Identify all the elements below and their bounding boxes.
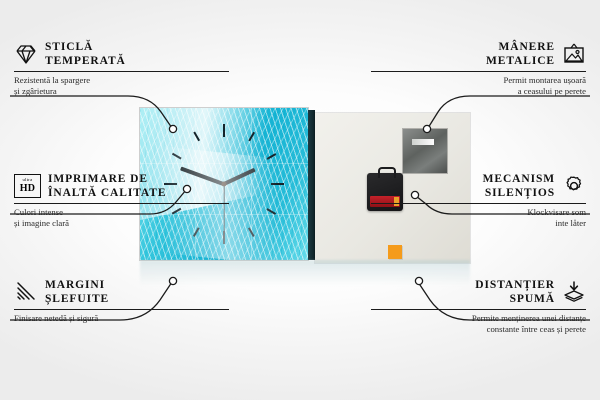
feature-title: DISTANȚIERSPUMĂ [475, 278, 555, 306]
hour-marker [223, 231, 225, 244]
infographic-canvas: STICLĂTEMPERATĂ Rezistentă la spargereși… [0, 0, 600, 400]
panel-seam-horizontal-1 [140, 163, 308, 164]
divider [14, 71, 229, 72]
feature-sticla-temperata[interactable]: STICLĂTEMPERATĂ Rezistentă la spargereși… [14, 40, 229, 98]
divider [371, 309, 586, 310]
diamond-icon [14, 42, 38, 66]
picture-hanger-icon [562, 42, 586, 66]
divider [14, 203, 229, 204]
hour-marker [223, 124, 225, 137]
divider [14, 309, 229, 310]
hour-marker [267, 153, 276, 159]
metal-hanger-bracket [403, 129, 447, 173]
ultra-hd-icon: ultraHD [14, 174, 41, 198]
feature-title: MARGINIȘLEFUITE [45, 278, 109, 306]
feature-distantier-spuma[interactable]: DISTANȚIERSPUMĂ Permite menținerea unei … [371, 278, 586, 336]
hour-marker [248, 227, 254, 236]
feature-title: MÂNEREMETALICE [486, 40, 555, 68]
gear-icon [562, 174, 586, 198]
feature-manere-metalice[interactable]: MÂNEREMETALICE Permit montarea ușoarăa c… [371, 40, 586, 98]
feature-margini-slefuite[interactable]: MARGINIȘLEFUITE Finisare netedă și sigur… [14, 278, 229, 324]
hour-marker [172, 153, 181, 159]
feature-description: Culori intenseși imagine clară [14, 207, 229, 230]
press-down-pad-icon [562, 280, 586, 304]
divider [371, 203, 586, 204]
feature-title: IMPRIMARE DEÎNALTĂ CALITATE [48, 172, 166, 200]
feature-description: Permite menținerea unei distanțeconstant… [371, 313, 586, 336]
hour-marker [271, 183, 284, 185]
panel-seam-vertical-2 [251, 108, 252, 260]
feature-title: MECANISMSILENȚIOS [483, 172, 555, 200]
feature-imprimare-inalta-calitate[interactable]: ultraHD IMPRIMARE DEÎNALTĂ CALITATE Culo… [14, 172, 229, 230]
feature-description: Klockvisare sominte låter [371, 207, 586, 230]
feature-description: Rezistentă la spargereși zgârietura [14, 75, 229, 98]
feature-title: STICLĂTEMPERATĂ [45, 40, 126, 68]
feature-description: Permit montarea ușoarăa ceasului pe pere… [371, 75, 586, 98]
glass-edge [308, 110, 315, 260]
beveled-edge-icon [14, 280, 38, 304]
foam-spacer-pad [388, 245, 402, 259]
hour-marker [193, 132, 199, 141]
divider [371, 71, 586, 72]
hour-marker [267, 208, 276, 214]
feature-description: Finisare netedă și sigură [14, 313, 229, 324]
feature-mecanism-silentios[interactable]: MECANISMSILENȚIOS Klockvisare sominte lå… [371, 172, 586, 230]
